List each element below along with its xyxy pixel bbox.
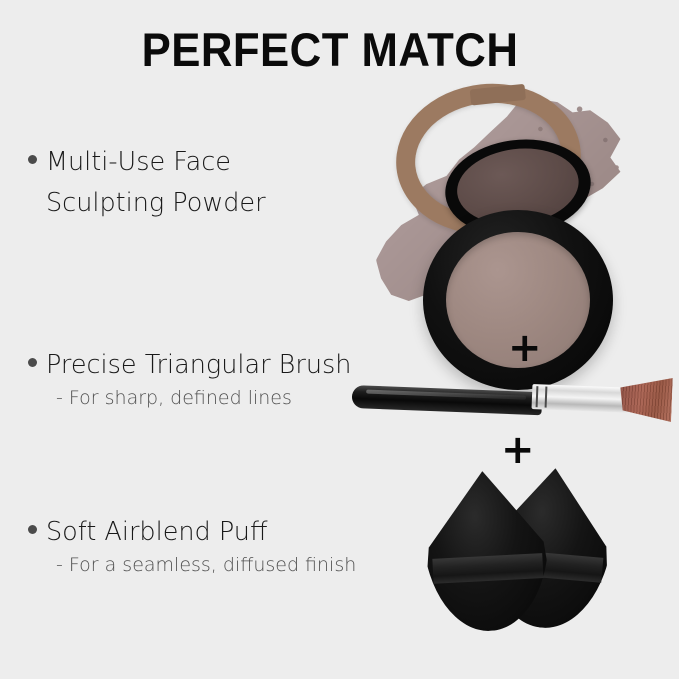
feature-item-puff: Soft Airblend Puff - For a seamless, dif… [28,512,356,576]
puff-body [420,468,553,634]
brush-handle [352,385,543,415]
feature-headline-puff: Soft Airblend Puff [46,512,356,553]
brush-bristles [619,376,673,422]
bullet-dot-icon [28,155,37,164]
bullet-dot-icon [28,358,37,367]
infographic-canvas: PERFECT MATCH Multi-Use Face Sculpting P… [0,0,679,679]
plus-separator-icon-1: + [508,328,542,368]
bullet-dot-icon [28,525,37,534]
brush-ferrule [532,384,629,413]
feature-headline-powder-line2: Sculpting Powder [46,183,266,224]
feature-subtitle-puff: - For a seamless, diffused finish [56,554,356,576]
feature-item-powder: Multi-Use Face Sculpting Powder [28,142,266,224]
powder-puff-front [420,468,553,634]
page-title: PERFECT MATCH [23,22,637,77]
feature-headline-powder-line1: Multi-Use Face [46,142,266,183]
product-image-powder-puffs [424,466,624,631]
feature-subtitle-brush: - For sharp, defined lines [56,387,351,409]
product-image-makeup-brush [352,376,662,420]
feature-headline-brush: Precise Triangular Brush [46,345,351,386]
feature-item-brush: Precise Triangular Brush - For sharp, de… [28,345,351,409]
product-image-powder-compact [368,80,668,315]
